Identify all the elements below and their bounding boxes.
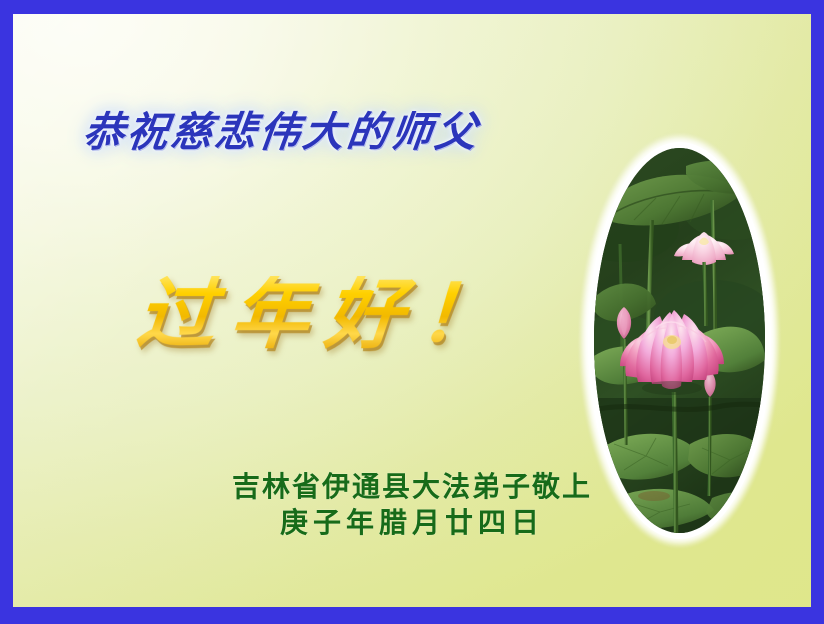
lotus-photo-frame xyxy=(578,132,781,549)
lotus-photo-artwork xyxy=(594,148,765,533)
main-greeting: 过年好！ xyxy=(134,276,517,354)
headline-blessing: 恭祝慈悲伟大的师父 xyxy=(80,110,482,156)
greeting-card: 恭祝慈悲伟大的师父 过年好！ 吉林省伊通县大法弟子敬上 庚子年腊月廿四日 xyxy=(0,0,824,624)
card-inner-frame: 恭祝慈悲伟大的师父 过年好！ 吉林省伊通县大法弟子敬上 庚子年腊月廿四日 xyxy=(13,14,811,607)
lotus-photograph xyxy=(594,148,765,533)
